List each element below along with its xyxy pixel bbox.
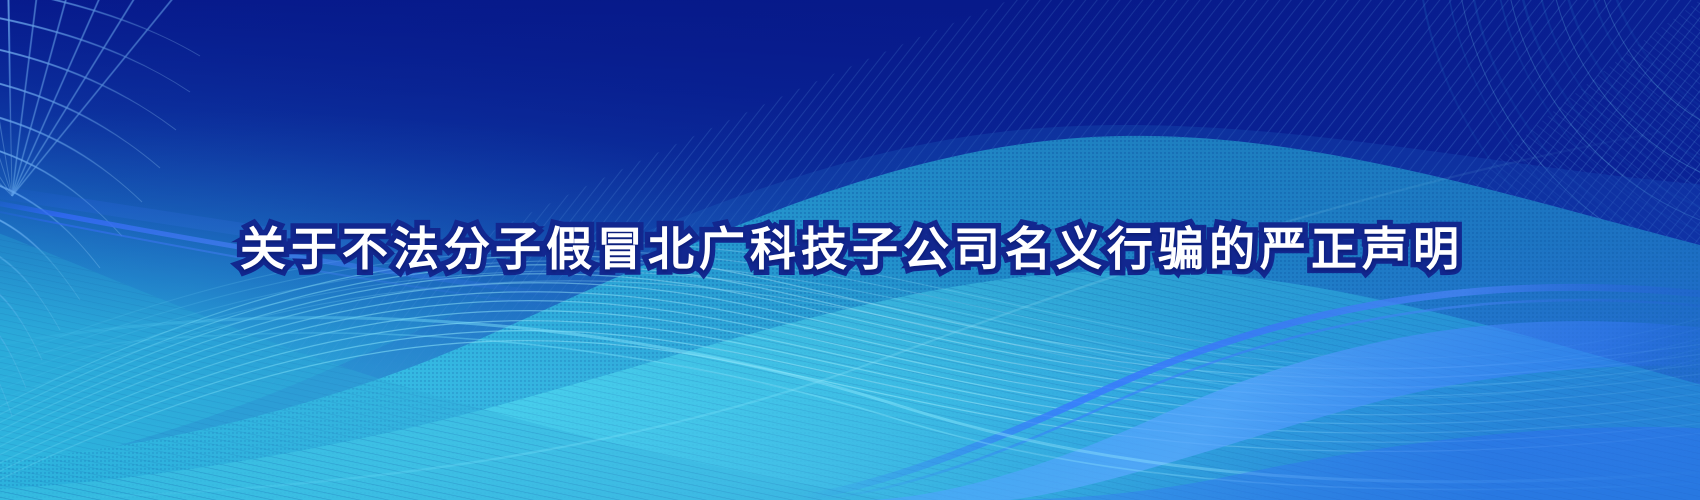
glow-vignette-layer — [0, 0, 1700, 500]
banner: 关于不法分子假冒北广科技子公司名义行骗的严正声明 — [0, 0, 1700, 500]
